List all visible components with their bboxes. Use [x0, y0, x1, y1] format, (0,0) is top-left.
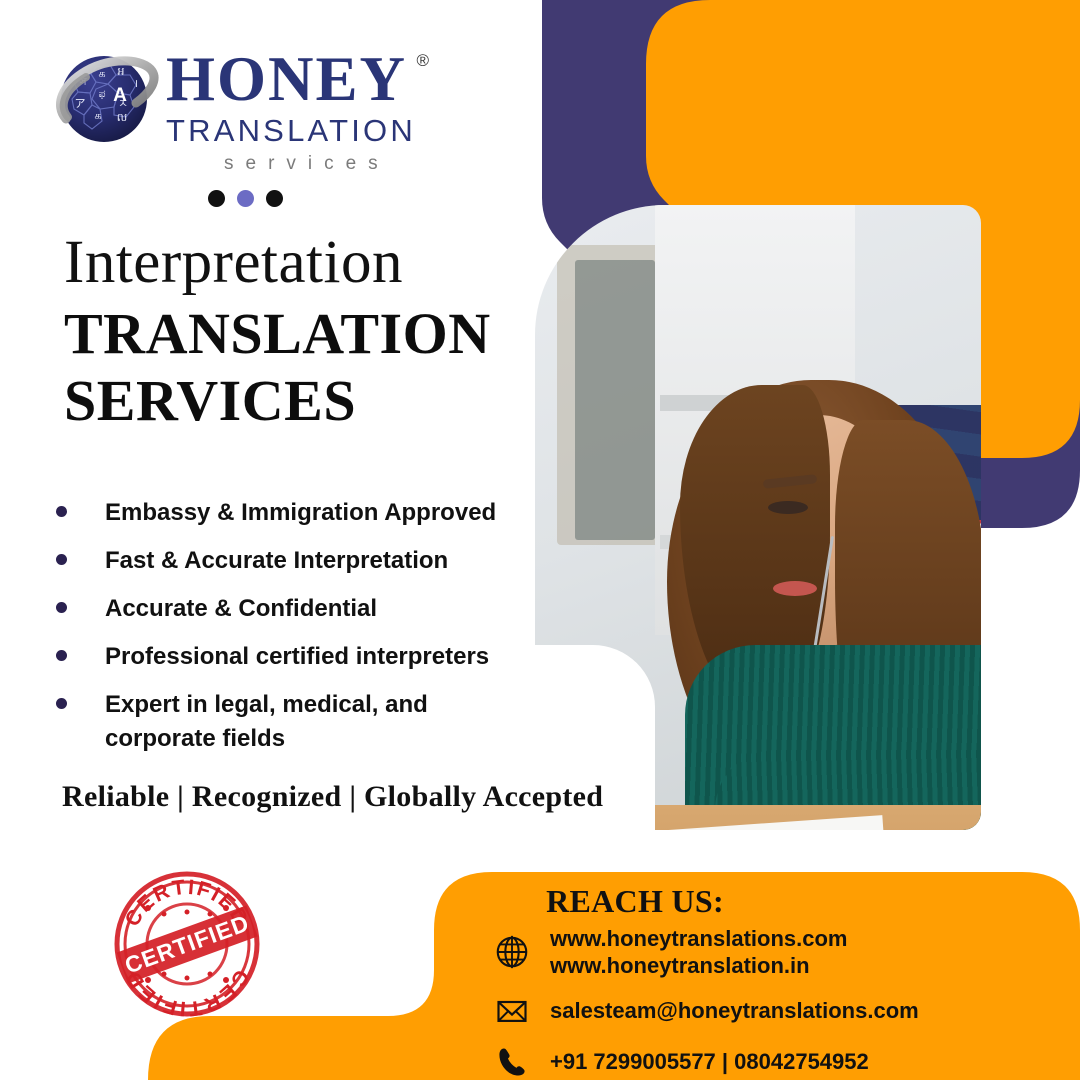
website-line-2: www.honeytranslation.in [550, 952, 847, 979]
svg-text:ល: ល [117, 111, 127, 124]
tagline: Reliable | Recognized | Globally Accepte… [62, 780, 603, 814]
globe-languages-icon: க អ । স ಫ ㅈ ア க ល A [52, 45, 160, 157]
list-item: Professional certified interpreters [56, 640, 526, 673]
headline-line-1: TRANSLATION [64, 300, 491, 367]
feature-list: Embassy & Immigration Approved Fast & Ac… [56, 496, 526, 770]
bullet-dot-icon [56, 554, 67, 565]
bullet-dot-icon [56, 698, 67, 709]
svg-text:A: A [113, 85, 127, 106]
contact-email-text: salesteam@honeytranslations.com [550, 997, 919, 1024]
dot-2 [237, 190, 254, 207]
contact-heading: REACH US: [0, 883, 1080, 920]
page-title: Interpretation TRANSLATION SERVICES [64, 232, 491, 435]
contact-row-email[interactable]: salesteam@honeytranslations.com [492, 991, 1052, 1031]
contact-row-phone[interactable]: +91 7299005577 | 08042754952 [492, 1042, 1052, 1080]
svg-text:।: । [134, 77, 138, 90]
envelope-icon [492, 991, 532, 1031]
logo-name-primary: HONEY® [166, 51, 407, 109]
poster-canvas: க អ । স ಫ ㅈ ア க ល A HONEY® TRANSLATION s… [0, 0, 1080, 1080]
brand-logo[interactable]: க អ । স ಫ ㅈ ア க ល A HONEY® TRANSLATION s… [52, 45, 416, 173]
contact-row-website[interactable]: www.honeytranslations.com www.honeytrans… [492, 925, 1052, 980]
headline-line-2: SERVICES [64, 367, 491, 434]
contact-heading-label: REACH US: [546, 883, 724, 919]
registered-trademark-icon: ® [417, 53, 432, 69]
bullet-dot-icon [56, 506, 67, 517]
contact-list: www.honeytranslations.com www.honeytrans… [492, 925, 1052, 1080]
headline-script-line: Interpretation [64, 232, 491, 294]
headline-main: TRANSLATION SERVICES [64, 300, 491, 435]
website-line-1: www.honeytranslations.com [550, 925, 847, 952]
list-item: Embassy & Immigration Approved [56, 496, 526, 529]
dot-1 [208, 190, 225, 207]
list-item-label: Accurate & Confidential [105, 592, 377, 625]
contact-phone-text: +91 7299005577 | 08042754952 [550, 1048, 869, 1075]
bullet-dot-icon [56, 650, 67, 661]
logo-name-tertiary: services [224, 154, 416, 173]
list-item-label: Embassy & Immigration Approved [105, 496, 496, 529]
decorative-dots [208, 190, 283, 207]
dot-3 [266, 190, 283, 207]
svg-text:ಫ: ಫ [98, 87, 105, 100]
logo-name-secondary: TRANSLATION [166, 115, 416, 146]
globe-icon [492, 932, 532, 972]
list-item-label: Fast & Accurate Interpretation [105, 544, 448, 577]
list-item-label: Professional certified interpreters [105, 640, 489, 673]
list-item: Accurate & Confidential [56, 592, 526, 625]
logo-wordmark: HONEY® TRANSLATION services [166, 51, 416, 173]
bullet-dot-icon [56, 602, 67, 613]
svg-text:អ: អ [118, 65, 125, 78]
svg-text:க: க [94, 109, 101, 122]
contact-website-text: www.honeytranslations.com www.honeytrans… [550, 925, 847, 980]
list-item-label: Expert in legal, medical, and corporate … [105, 688, 465, 754]
list-item: Fast & Accurate Interpretation [56, 544, 526, 577]
phone-icon [492, 1042, 532, 1080]
svg-text:ア: ア [75, 97, 86, 110]
list-item: Expert in legal, medical, and corporate … [56, 688, 526, 754]
